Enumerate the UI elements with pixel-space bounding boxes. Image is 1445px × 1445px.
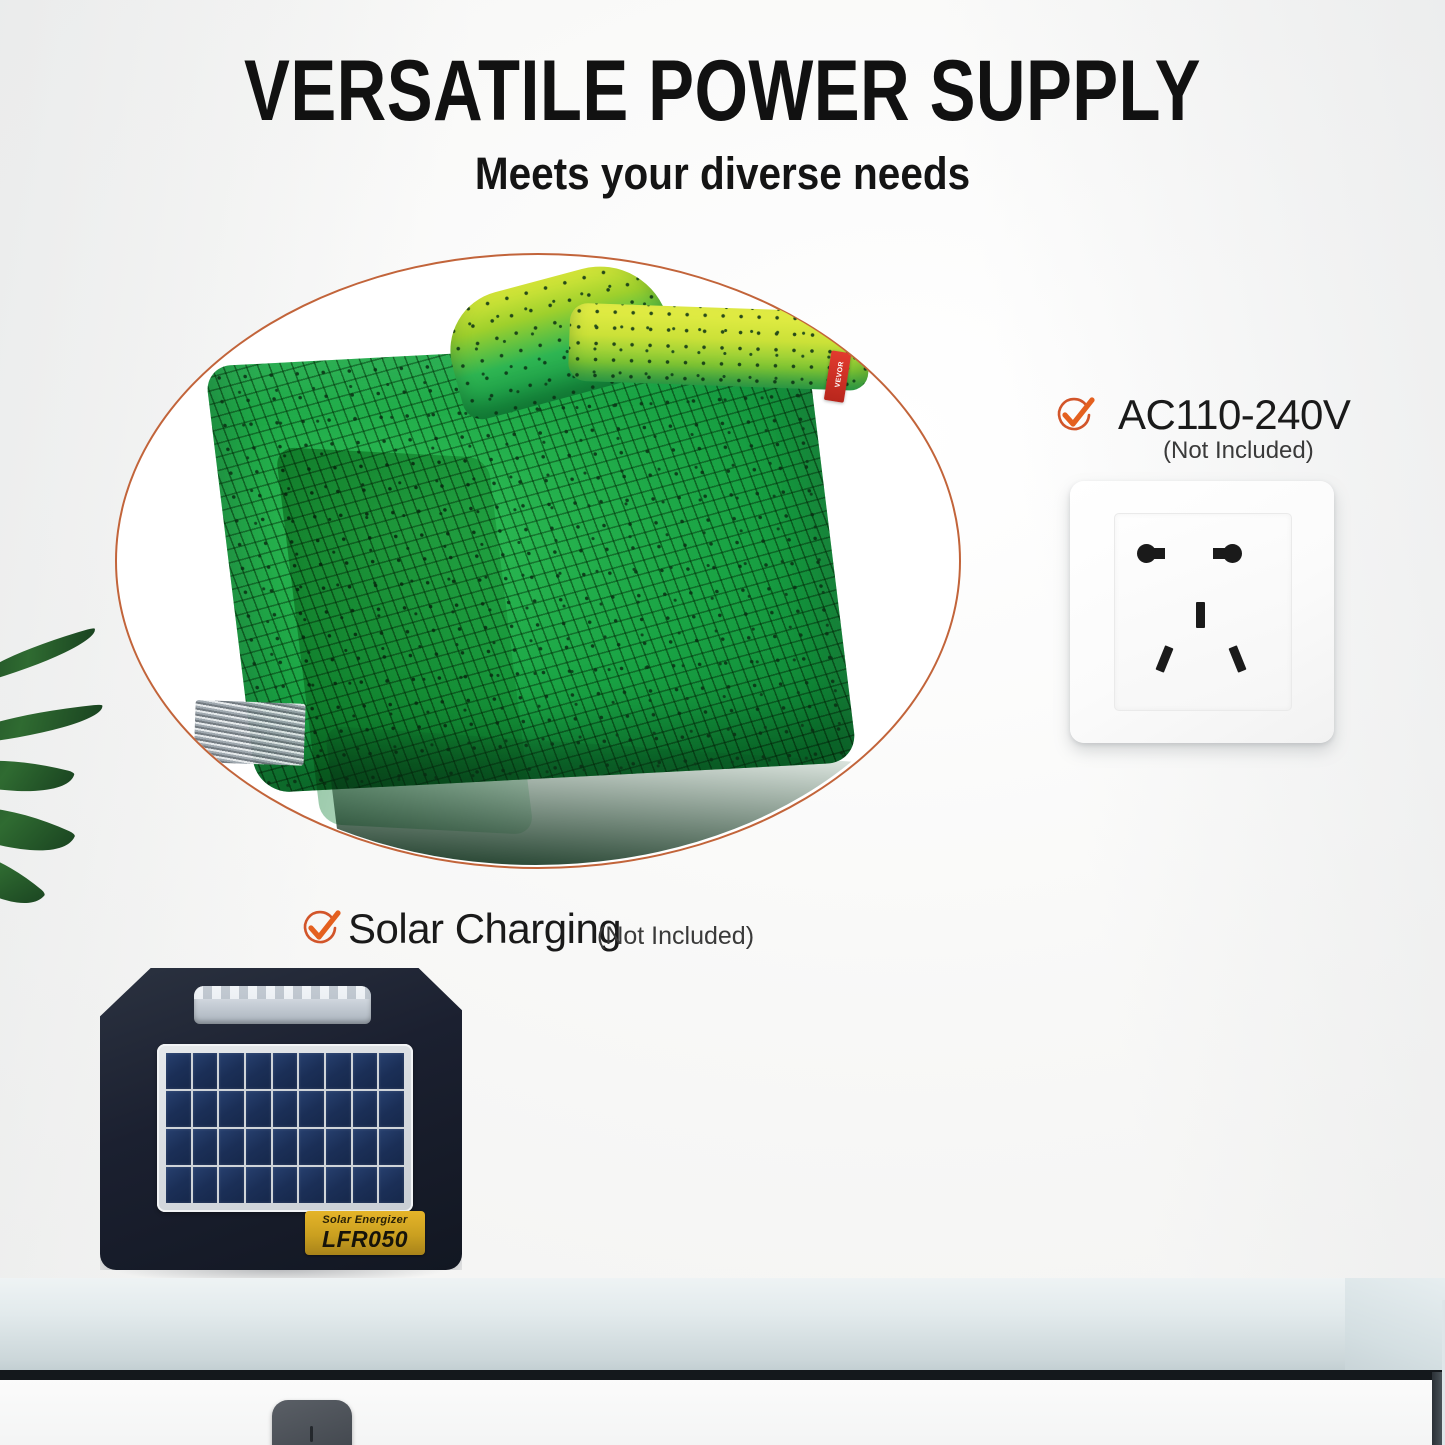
badge-brand-text: Solar Energizer [305, 1214, 425, 1226]
product-image-netting: VEVOR [115, 253, 957, 865]
feature-note-solar: (Not Included) [597, 922, 754, 951]
product-marketing-image: VERSATILE POWER SUPPLY Meets your divers… [0, 0, 1445, 1445]
device-handle [194, 986, 371, 1024]
check-circle-icon [1052, 393, 1096, 437]
outlet-slot-right-dot [1223, 544, 1242, 563]
feature-label-ac: AC110-240V [1118, 391, 1350, 439]
outlet-ground-recess [1188, 597, 1224, 633]
check-circle-icon [298, 906, 342, 950]
solar-energizer-device: Solar Energizer LFR050 [100, 968, 462, 1270]
device-model-badge: Solar Energizer LFR050 [305, 1211, 425, 1255]
cabinet-right-edge [1432, 1372, 1442, 1445]
outlet-faceplate-inner [1114, 513, 1292, 711]
plant-leaf [0, 628, 101, 685]
feature-label-solar: Solar Charging [348, 905, 621, 953]
feature-note-ac: (Not Included) [1163, 437, 1314, 465]
solar-panel-cells [166, 1053, 404, 1203]
wire-bundle [194, 700, 306, 766]
page-subtitle: Meets your diverse needs [72, 148, 1373, 200]
outlet-slot-left-dot [1137, 544, 1156, 563]
badge-model-text: LFR050 [305, 1226, 425, 1253]
drawer-handle[interactable] [272, 1400, 352, 1445]
plant-leaf [0, 704, 105, 746]
page-title: VERSATILE POWER SUPPLY [145, 48, 1301, 134]
cabinet-shadow-gap [0, 1370, 1445, 1380]
drawer-handle-notch [310, 1426, 313, 1442]
outlet-slot-angled-right [1228, 645, 1246, 672]
plant-leaf [0, 782, 76, 876]
cabinet-drawer-front [0, 1380, 1445, 1445]
outlet-slot-ground [1196, 602, 1205, 628]
cabinet-top-surface [0, 1278, 1445, 1382]
plant-leaf [0, 743, 75, 809]
wall-outlet [1070, 481, 1334, 743]
outlet-slot-angled-left [1155, 645, 1173, 672]
handle-grip-ridges [194, 986, 371, 999]
solar-panel-frame [157, 1044, 413, 1212]
